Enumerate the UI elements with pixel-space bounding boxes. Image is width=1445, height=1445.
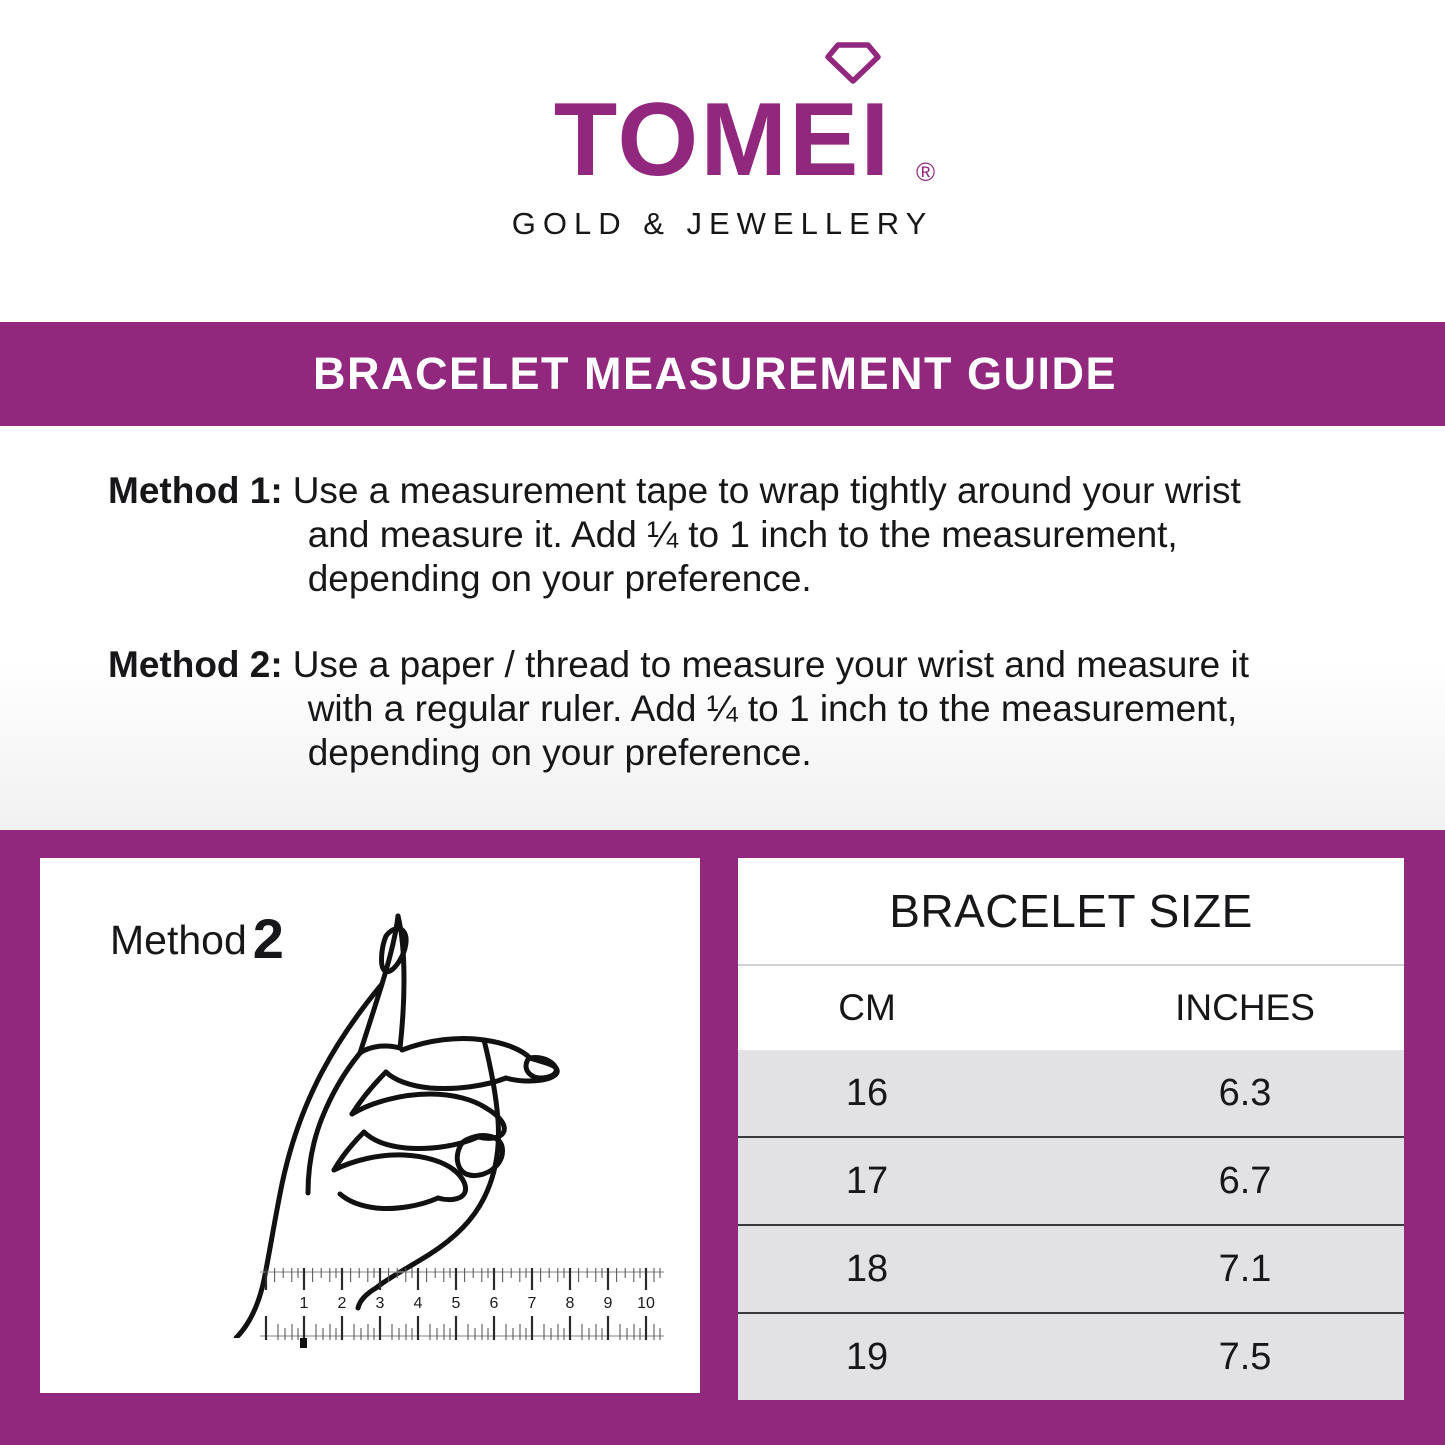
ruler-mark-7: 7 (528, 1295, 537, 1312)
ruler-mark-1: 1 (300, 1295, 309, 1312)
bottom-magenta-section: Method2 (0, 830, 1445, 1445)
method-1-line-1: Use a measurement tape to wrap tightly a… (293, 469, 1398, 513)
brand-wordmark: TOMEI (554, 88, 891, 192)
ruler-mark-2: 2 (338, 1295, 347, 1312)
bracelet-measurement-guide-page: TOMEI ® GOLD & JEWELLERY BRACELET MEASUR… (0, 0, 1445, 1445)
method-2-label: Method 2: (108, 643, 283, 687)
method-1-line-2: and measure it. Add ¼ to 1 inch to the m… (293, 513, 1398, 557)
cell-inches: 6.7 (1116, 1160, 1404, 1203)
registered-trademark-icon: ® (916, 157, 935, 188)
ruler-mark-3: 3 (376, 1295, 385, 1312)
title-banner: BRACELET MEASUREMENT GUIDE (0, 322, 1445, 426)
method-2-block: Method 2: Use a paper / thread to measur… (108, 643, 1398, 775)
diamond-icon (825, 42, 881, 84)
method-2-line-3: depending on your preference. (293, 731, 1398, 775)
ruler-mark-8: 8 (566, 1295, 575, 1312)
ruler-mark-10: 10 (637, 1295, 655, 1312)
method-1-label: Method 1: (108, 469, 283, 513)
cell-cm: 16 (738, 1072, 1116, 1115)
methods-section: Method 1: Use a measurement tape to wrap… (0, 426, 1445, 830)
table-row: 17 6.7 (738, 1136, 1404, 1224)
illustration-panel: Method2 (40, 858, 700, 1393)
brand-tagline: GOLD & JEWELLERY (0, 206, 1445, 242)
cell-inches: 6.3 (1116, 1072, 1404, 1115)
table-row: 19 7.5 (738, 1312, 1404, 1400)
cell-cm: 19 (738, 1336, 1116, 1379)
cell-inches: 7.1 (1116, 1248, 1404, 1291)
size-table-header-row: CM INCHES (738, 966, 1404, 1050)
cell-cm: 17 (738, 1160, 1116, 1203)
method-1-line-3: depending on your preference. (293, 557, 1398, 601)
logo-header: TOMEI ® GOLD & JEWELLERY (0, 0, 1445, 322)
method-2-body: Use a paper / thread to measure your wri… (293, 643, 1398, 775)
ruler-mark-4: 4 (414, 1295, 423, 1312)
ruler-icon: 1 2 3 4 5 6 7 8 9 10 (252, 1258, 672, 1348)
method-1-body: Use a measurement tape to wrap tightly a… (293, 469, 1398, 601)
table-row: 16 6.3 (738, 1050, 1404, 1136)
method-1-block: Method 1: Use a measurement tape to wrap… (108, 469, 1398, 601)
cell-inches: 7.5 (1116, 1336, 1404, 1379)
method-2-line-2: with a regular ruler. Add ¼ to 1 inch to… (293, 687, 1398, 731)
cell-cm: 18 (738, 1248, 1116, 1291)
column-header-inches: INCHES (1116, 987, 1404, 1029)
ruler-mark-5: 5 (452, 1295, 461, 1312)
method-2-line-1: Use a paper / thread to measure your wri… (293, 643, 1398, 687)
size-table-title: BRACELET SIZE (738, 858, 1404, 966)
brand-logo: TOMEI ® GOLD & JEWELLERY (0, 0, 1445, 242)
page-title: BRACELET MEASUREMENT GUIDE (313, 348, 1117, 400)
ruler-mark-6: 6 (490, 1295, 499, 1312)
table-row: 18 7.1 (738, 1224, 1404, 1312)
column-header-cm: CM (738, 987, 1116, 1029)
ruler-mark-9: 9 (604, 1295, 613, 1312)
size-table-panel: BRACELET SIZE CM INCHES 16 6.3 17 6.7 18… (738, 858, 1404, 1393)
logo-wordmark-wrap: TOMEI ® (554, 88, 891, 192)
